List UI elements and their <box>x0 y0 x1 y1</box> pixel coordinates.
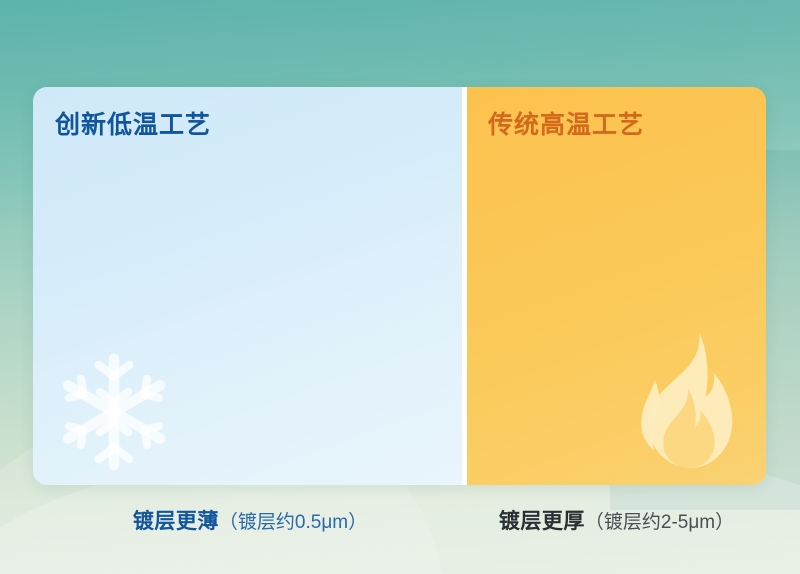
flame-icon <box>637 331 741 471</box>
caption-row: 镀层更薄 （镀层约0.5μm） 镀层更厚 （镀层约2-5μm） <box>33 505 766 535</box>
cold-process-panel[interactable]: 创新低温工艺 <box>33 87 462 485</box>
hot-caption: 镀层更厚 （镀层约2-5μm） <box>467 505 766 535</box>
hot-caption-main: 镀层更厚 <box>499 505 585 535</box>
cold-caption: 镀层更薄 （镀层约0.5μm） <box>33 505 467 535</box>
cold-panel-title: 创新低温工艺 <box>55 110 211 140</box>
hot-panel-title: 传统高温工艺 <box>488 110 644 140</box>
snowflake-icon <box>55 353 173 471</box>
cold-caption-detail: （镀层约0.5μm） <box>219 507 367 534</box>
comparison-card: 创新低温工艺 <box>33 87 766 485</box>
hot-process-panel[interactable]: 传统高温工艺 <box>467 87 766 485</box>
cold-caption-main: 镀层更薄 <box>133 505 219 535</box>
comparison-infographic: 创新低温工艺 <box>0 0 800 574</box>
hot-caption-detail: （镀层约2-5μm） <box>585 507 734 534</box>
